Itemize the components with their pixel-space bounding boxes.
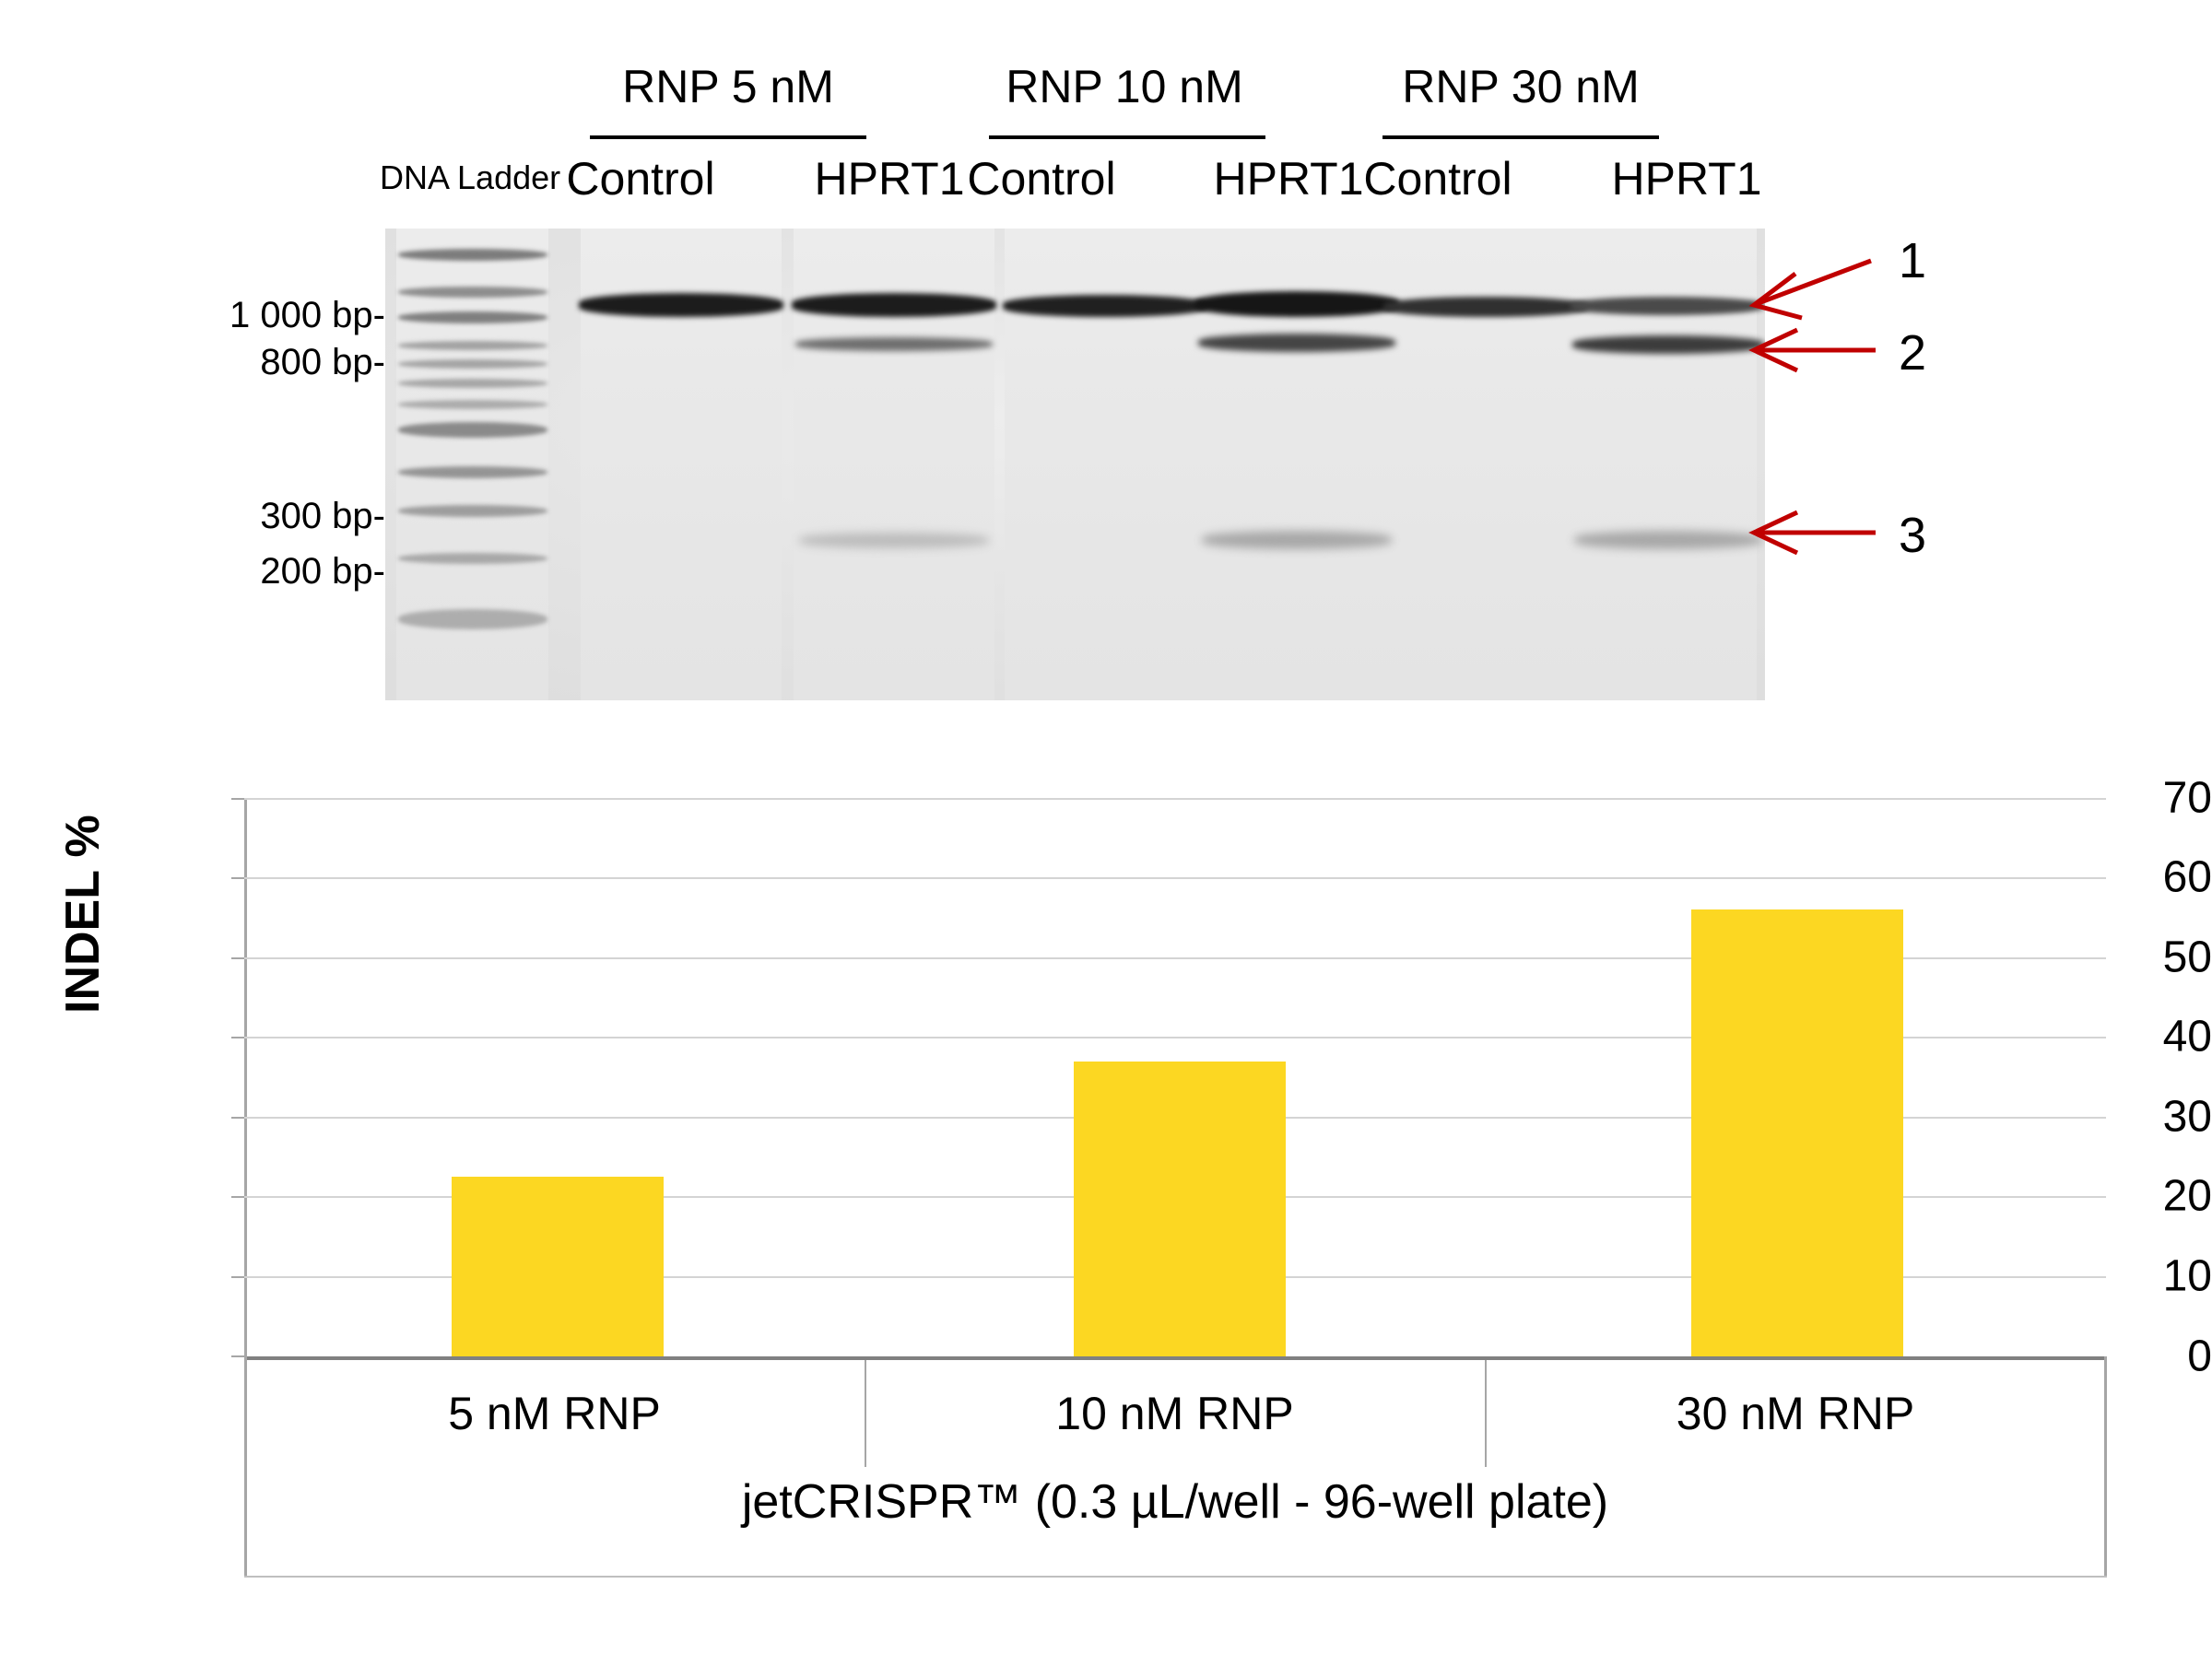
group-rule-rnp-30 (1382, 135, 1659, 139)
band-parent-lane3 (1003, 295, 1207, 317)
x-axis-title: jetCRISPR™ (0.3 µL/well - 96-well plate) (244, 1474, 2106, 1530)
group-label-rnp-10: RNP 10 nM (977, 60, 1272, 113)
lane-label-6: HPRT1 (1576, 152, 1797, 205)
ladder-band (398, 359, 547, 369)
chart-bottom-border (244, 1576, 2107, 1578)
bp-marker-200: 200 bp- (147, 551, 385, 592)
indel-bar-chart: INDEL % 70 60 50 40 30 20 10 0 5 nM RNP … (0, 737, 2212, 1666)
ladder-band (398, 311, 547, 323)
gridline (244, 877, 2106, 879)
band-cleavage-lower-lane2 (799, 533, 989, 548)
arrow-1-line (1756, 261, 1871, 304)
band-parent-lane6 (1571, 297, 1764, 315)
group-label-rnp-30: RNP 30 nM (1373, 60, 1668, 113)
gel-electrophoresis-figure: RNP 5 nM RNP 10 nM RNP 30 nM DNA Ladder … (0, 0, 2212, 737)
ladder-band (398, 341, 547, 350)
group-label-rnp-5: RNP 5 nM (581, 60, 876, 113)
gridline (244, 798, 2106, 800)
ladder-band (398, 466, 547, 478)
lane-label-5: Control (1327, 152, 1548, 205)
band-cleavage-upper-lane4 (1198, 334, 1395, 352)
y-tick-mark (231, 1196, 244, 1198)
category-label-10nm: 10 nM RNP (865, 1360, 1485, 1467)
arrow-label-2: 2 (1899, 324, 1926, 381)
ladder-band (398, 422, 547, 438)
y-tick-mark (231, 1117, 244, 1119)
ladder-band (398, 400, 547, 409)
band-parent-lane1 (579, 293, 783, 317)
y-tick-mark (231, 798, 244, 800)
lane-track-ladder (396, 229, 548, 700)
plot-area (244, 798, 2106, 1356)
y-axis-title: INDEL % (55, 815, 111, 1014)
band-parent-lane4 (1194, 291, 1399, 317)
group-rule-rnp-5 (590, 135, 866, 139)
category-band: 5 nM RNP 10 nM RNP 30 nM RNP (244, 1360, 2106, 1467)
ladder-band (398, 505, 547, 517)
group-rule-rnp-10 (989, 135, 1265, 139)
category-label-5nm: 5 nM RNP (244, 1360, 865, 1467)
chart-left-border (244, 1356, 247, 1578)
ladder-band (398, 287, 547, 298)
y-tick-mark (231, 1355, 244, 1357)
ladder-band (398, 609, 547, 629)
arrow-label-1: 1 (1899, 232, 1926, 289)
chart-right-border (2104, 1356, 2107, 1578)
bar-10nm[interactable] (1074, 1062, 1286, 1356)
y-tick-mark (231, 1276, 244, 1278)
ladder-band (398, 379, 547, 388)
y-tick-mark (231, 957, 244, 959)
bar-30nm[interactable] (1691, 909, 1903, 1356)
ladder-band (398, 249, 547, 261)
bp-marker-800: 800 bp- (147, 342, 385, 383)
bar-5nm[interactable] (452, 1177, 664, 1356)
band-cleavage-lower-lane6 (1574, 531, 1762, 549)
band-cleavage-upper-lane6 (1572, 335, 1764, 354)
band-parent-lane5 (1383, 297, 1588, 317)
ladder-band (398, 553, 547, 564)
gel-image-panel (385, 229, 1765, 700)
lane-label-1: Control (530, 152, 751, 205)
y-tick-mark (231, 1037, 244, 1038)
band-cleavage-lower-lane4 (1202, 531, 1392, 549)
y-tick-mark (231, 877, 244, 879)
bp-marker-1000: 1 000 bp- (147, 295, 385, 336)
bp-marker-300: 300 bp- (147, 496, 385, 537)
category-label-30nm: 30 nM RNP (1485, 1360, 2106, 1467)
band-cleavage-upper-lane2 (795, 337, 993, 351)
arrow-label-3: 3 (1899, 507, 1926, 564)
lane-label-3: Control (931, 152, 1152, 205)
band-parent-lane2 (792, 293, 996, 317)
